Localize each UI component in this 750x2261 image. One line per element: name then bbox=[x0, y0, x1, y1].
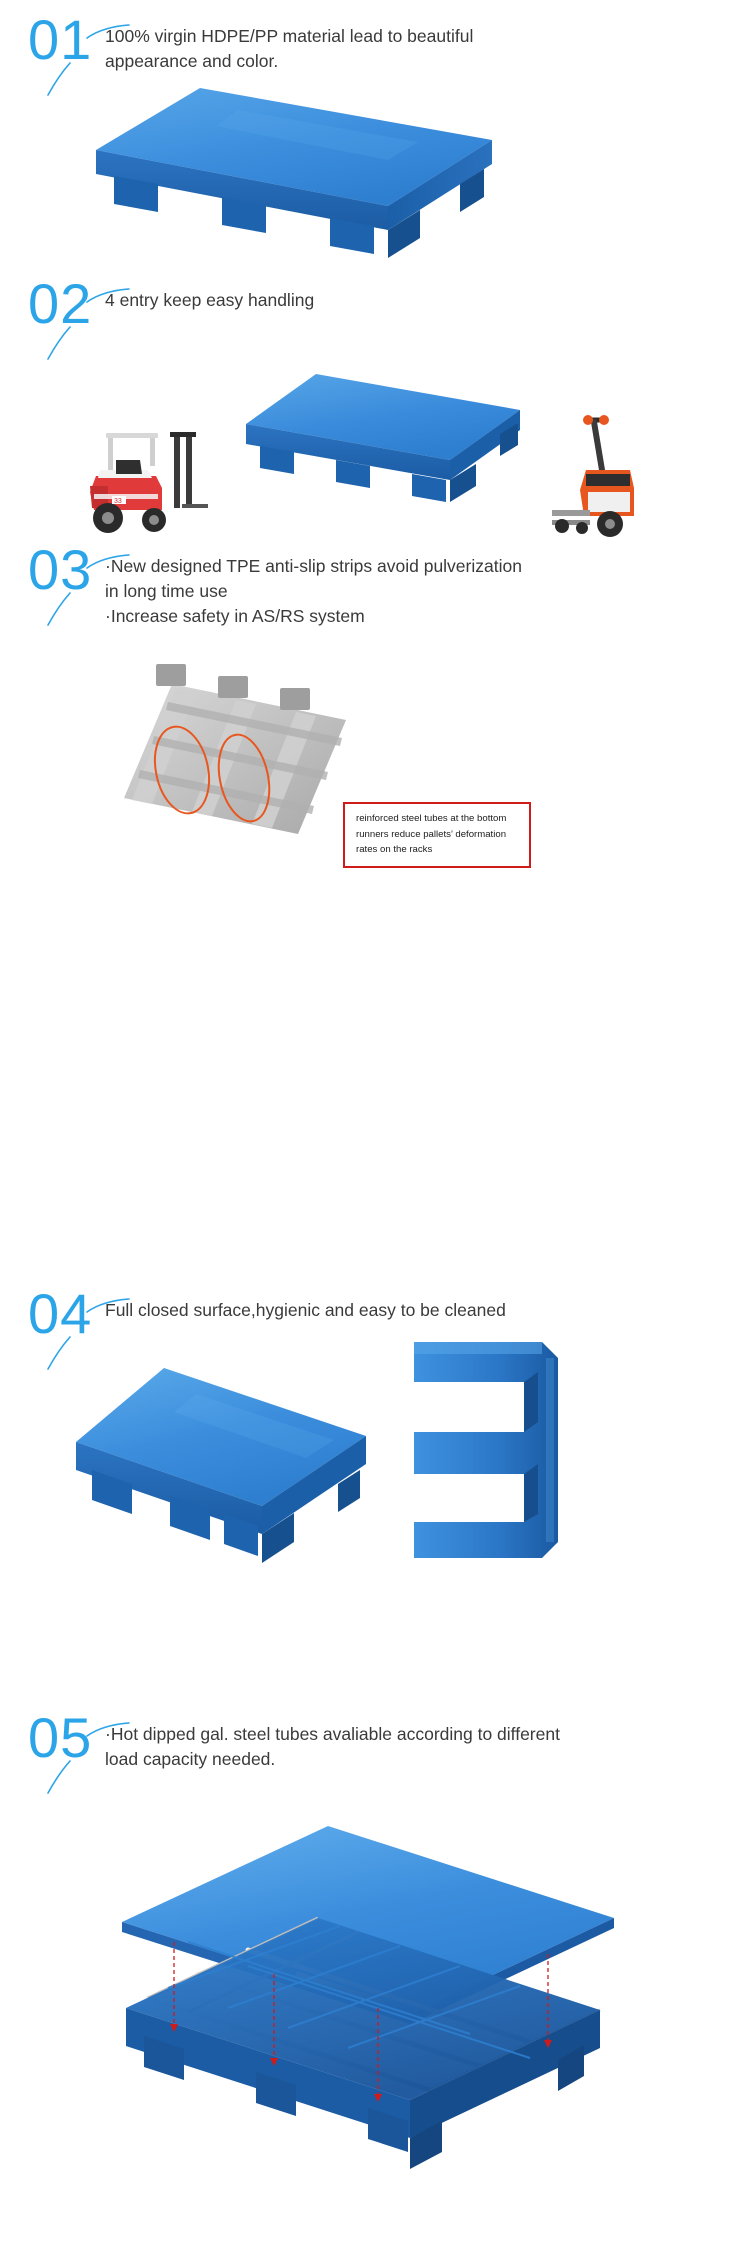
swoosh-bottom-icon bbox=[46, 592, 72, 626]
section-03-callout-box: reinforced steel tubes at the bottom run… bbox=[343, 802, 531, 868]
section-01-number-wrap: 01 bbox=[0, 18, 105, 82]
section-03: 03 ·New designed TPE anti-slip strips av… bbox=[0, 548, 750, 629]
section-01-number: 01 bbox=[28, 12, 92, 68]
swoosh-bottom-icon bbox=[46, 326, 72, 360]
swoosh-bottom-icon bbox=[46, 62, 72, 96]
section-02-text: 4 entry keep easy handling bbox=[105, 282, 314, 313]
section-03-underside-image bbox=[110, 658, 370, 868]
section-05-number: 05 bbox=[28, 1710, 92, 1766]
section-02-pallet-image bbox=[238, 368, 528, 518]
section-03-text: ·New designed TPE anti-slip strips avoid… bbox=[105, 548, 522, 629]
swoosh-top-icon bbox=[86, 288, 130, 304]
section-04-number: 04 bbox=[28, 1286, 92, 1342]
section-03-number-wrap: 03 bbox=[0, 548, 105, 612]
section-02: 02 4 entry keep easy handling bbox=[0, 282, 750, 346]
section-04: 04 Full closed surface,hygienic and easy… bbox=[0, 1292, 750, 1356]
section-04-number-wrap: 04 bbox=[0, 1292, 105, 1356]
section-01-text: 100% virgin HDPE/PP material lead to bea… bbox=[105, 18, 473, 74]
svg-text:33: 33 bbox=[114, 498, 122, 505]
section-03-heading: 03 ·New designed TPE anti-slip strips av… bbox=[0, 548, 750, 629]
section-02-number: 02 bbox=[28, 276, 92, 332]
section-02-number-wrap: 02 bbox=[0, 282, 105, 346]
swoosh-bottom-icon bbox=[46, 1760, 72, 1794]
section-05-exploded-image bbox=[78, 1822, 668, 2172]
infographic-page: 01 100% virgin HDPE/PP material lead to … bbox=[0, 0, 750, 2261]
section-04-side-profile-image bbox=[392, 1336, 582, 1566]
section-05-number-wrap: 05 bbox=[0, 1716, 105, 1780]
section-05-text: ·Hot dipped gal. steel tubes avaliable a… bbox=[105, 1716, 560, 1772]
section-02-heading: 02 4 entry keep easy handling bbox=[0, 282, 750, 346]
section-04-heading: 04 Full closed surface,hygienic and easy… bbox=[0, 1292, 750, 1356]
section-02-pallet-jack-image bbox=[552, 414, 672, 542]
section-02-forklift-image: 33 bbox=[82, 430, 212, 540]
swoosh-top-icon bbox=[86, 554, 130, 570]
section-01-heading: 01 100% virgin HDPE/PP material lead to … bbox=[0, 18, 750, 82]
section-03-callout-text: reinforced steel tubes at the bottom run… bbox=[356, 811, 520, 858]
section-05: 05 ·Hot dipped gal. steel tubes avaliabl… bbox=[0, 1716, 750, 1780]
section-01-pallet-image bbox=[88, 80, 508, 280]
swoosh-top-icon bbox=[86, 24, 130, 40]
section-01: 01 100% virgin HDPE/PP material lead to … bbox=[0, 18, 750, 82]
section-04-text: Full closed surface,hygienic and easy to… bbox=[105, 1292, 506, 1323]
section-04-pallet-image bbox=[66, 1358, 376, 1568]
section-03-number: 03 bbox=[28, 542, 92, 598]
section-05-heading: 05 ·Hot dipped gal. steel tubes avaliabl… bbox=[0, 1716, 750, 1780]
swoosh-top-icon bbox=[86, 1722, 130, 1738]
swoosh-top-icon bbox=[86, 1298, 130, 1314]
